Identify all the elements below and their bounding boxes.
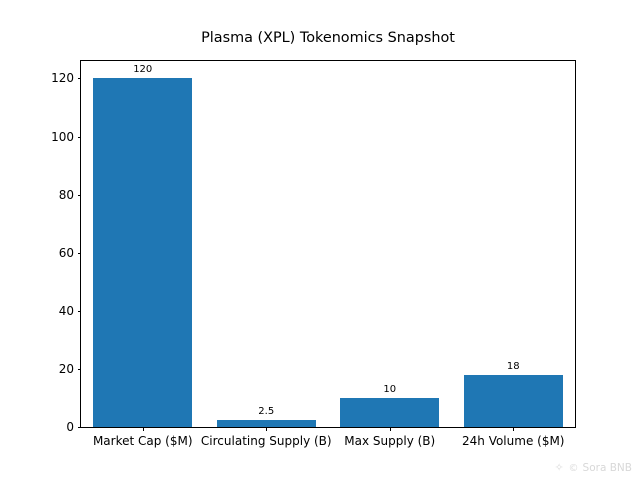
- y-axis-tick-mark: [78, 137, 82, 138]
- bar: [340, 398, 439, 427]
- x-axis-tick-mark: [143, 427, 144, 431]
- x-axis-tick-label: Market Cap ($M): [93, 434, 193, 448]
- bar-value-label: 120: [93, 64, 192, 75]
- diamond-icon: ✧: [555, 463, 565, 473]
- watermark: ✧ © Sora BNB: [555, 462, 632, 474]
- chart-figure: Plasma (XPL) Tokenomics Snapshot 0204060…: [0, 0, 640, 480]
- chart-title: Plasma (XPL) Tokenomics Snapshot: [80, 30, 576, 46]
- x-axis-tick-label: Max Supply (B): [344, 434, 435, 448]
- y-axis-tick-label: 120: [51, 71, 74, 85]
- y-axis-tick-label: 20: [59, 362, 74, 376]
- bar-value-label: 2.5: [217, 406, 316, 417]
- copyright-icon: ©: [569, 463, 579, 474]
- y-axis-tick-label: 60: [59, 246, 74, 260]
- y-axis-tick-label: 100: [51, 130, 74, 144]
- watermark-label: Sora BNB: [583, 462, 632, 474]
- x-axis-tick-mark: [266, 427, 267, 431]
- x-axis-tick-mark: [513, 427, 514, 431]
- plot-area: 020406080100120120Market Cap ($M)2.5Circ…: [81, 61, 575, 427]
- y-axis-tick-label: 80: [59, 188, 74, 202]
- y-axis-tick-mark: [78, 195, 82, 196]
- y-axis-tick-mark: [78, 427, 82, 428]
- y-axis-tick-mark: [78, 311, 82, 312]
- bar-value-label: 10: [340, 384, 439, 395]
- y-axis-tick-label: 0: [66, 420, 74, 434]
- y-axis-tick-label: 40: [59, 304, 74, 318]
- x-axis-tick-label: 24h Volume ($M): [462, 434, 565, 448]
- y-axis-tick-mark: [78, 78, 82, 79]
- y-axis-tick-mark: [78, 369, 82, 370]
- bar: [464, 375, 563, 427]
- x-axis-tick-mark: [390, 427, 391, 431]
- bar: [217, 420, 316, 427]
- bar: [93, 78, 192, 427]
- bar-value-label: 18: [464, 361, 563, 372]
- y-axis-tick-mark: [78, 253, 82, 254]
- x-axis-tick-label: Circulating Supply (B): [201, 434, 332, 448]
- chart-axes: 020406080100120120Market Cap ($M)2.5Circ…: [80, 60, 576, 428]
